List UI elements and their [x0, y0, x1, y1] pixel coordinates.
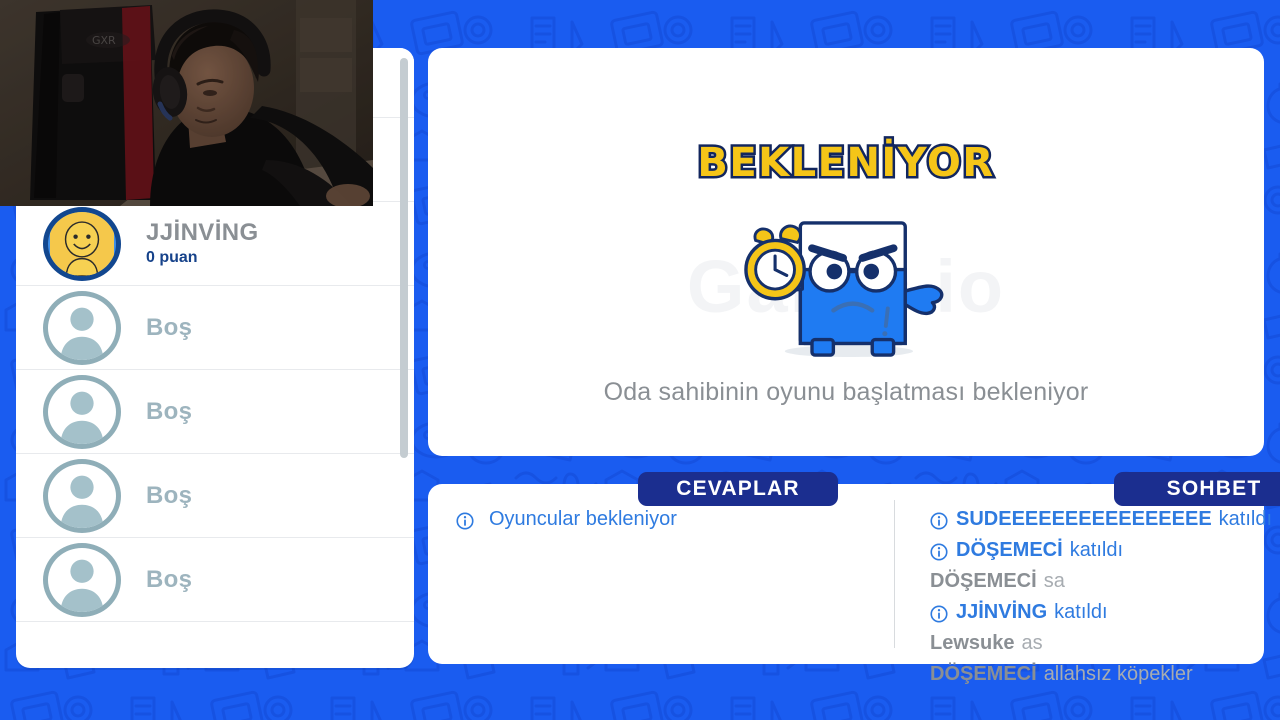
- baby-avatar-icon: [48, 212, 116, 276]
- waiting-subtitle: Oda sahibinin oyunu başlatması bekleniyo…: [428, 378, 1264, 407]
- empty-slot-label: Boş: [146, 398, 192, 426]
- player-score: 0 puan: [146, 249, 259, 267]
- player-info: JJİNVİNG 0 puan: [146, 220, 259, 266]
- app-root: DÖŞEMECİ 0 puan: [0, 0, 1280, 720]
- empty-avatar-icon: [43, 375, 121, 449]
- chat-message-text: katıldı: [1054, 597, 1107, 628]
- chat-message-name: DÖŞEMECİ: [930, 566, 1037, 597]
- player-row-jjinving[interactable]: JJİNVİNG 0 puan: [16, 202, 414, 286]
- player-list-scrollbar[interactable]: [400, 58, 408, 458]
- chat-message-text: sa: [1044, 566, 1065, 597]
- empty-slot-label: Boş: [146, 314, 192, 342]
- chat-message: SUDEEEEEEEEEEEEEEEE katıldı: [930, 504, 1280, 535]
- avatar: [40, 202, 124, 286]
- empty-avatar-icon: [43, 291, 121, 365]
- player-name: JJİNVİNG: [146, 220, 259, 245]
- empty-slot-label: Boş: [146, 482, 192, 510]
- chat-message-text: katıldı: [1219, 504, 1272, 535]
- avatar-image-baby: [43, 207, 121, 281]
- mascot-illustration: [731, 188, 961, 358]
- chat-message-text: allahsız köpekler: [1044, 659, 1193, 690]
- chat-message: Lewsuke as: [930, 628, 1280, 659]
- page-title: BEKLENİYOR: [428, 140, 1264, 186]
- avatar: [40, 370, 124, 454]
- chat-message-text: katıldı: [1070, 535, 1123, 566]
- chat-message: DÖŞEMECİ katıldı: [930, 535, 1280, 566]
- chat-message: JJİNVİNG katıldı: [930, 597, 1280, 628]
- webcam-video-frame: GXR: [0, 0, 373, 206]
- chat-message-name: DÖŞEMECİ: [930, 659, 1037, 690]
- answers-message: Oyuncular bekleniyor: [456, 504, 876, 535]
- panel-divider: [894, 500, 895, 648]
- chat-message-name: Lewsuke: [930, 628, 1014, 659]
- chat-message: DÖŞEMECİ allahsız köpekler: [930, 659, 1280, 690]
- answers-message-text: Oyuncular bekleniyor: [489, 504, 677, 535]
- player-row-empty[interactable]: Boş: [16, 370, 414, 454]
- chat-message-name: JJİNVİNG: [956, 597, 1047, 628]
- chat-message-name: DÖŞEMECİ: [956, 535, 1063, 566]
- person-silhouette-icon: [48, 380, 116, 444]
- chat-message-text: as: [1021, 628, 1042, 659]
- empty-slot-label: Boş: [146, 566, 192, 594]
- person-silhouette-icon: [48, 548, 116, 612]
- waiting-card: Gartic.io BEKLENİYOR: [428, 48, 1264, 456]
- empty-avatar-icon: [43, 459, 121, 533]
- avatar: [40, 538, 124, 622]
- avatar: [40, 454, 124, 538]
- info-icon: [930, 605, 948, 623]
- info-icon: [456, 512, 474, 530]
- tab-chat[interactable]: SOHBET: [1114, 472, 1280, 506]
- player-row-empty[interactable]: Boş: [16, 454, 414, 538]
- streamer-webcam-overlay: GXR: [0, 0, 373, 206]
- info-icon: [930, 512, 948, 530]
- player-row-empty[interactable]: Boş: [16, 286, 414, 370]
- avatar: [40, 286, 124, 370]
- player-row-empty[interactable]: Boş: [16, 538, 414, 622]
- empty-avatar-icon: [43, 543, 121, 617]
- chat-message: DÖŞEMECİ sa: [930, 566, 1280, 597]
- info-icon: [930, 543, 948, 561]
- person-silhouette-icon: [48, 296, 116, 360]
- tab-answers[interactable]: CEVAPLAR: [638, 472, 838, 506]
- chat-list: SUDEEEEEEEEEEEEEEEE katıldı DÖŞEMECİ kat…: [930, 504, 1280, 690]
- answers-list: Oyuncular bekleniyor: [456, 504, 876, 535]
- person-silhouette-icon: [48, 464, 116, 528]
- chat-message-name: SUDEEEEEEEEEEEEEEEE: [956, 504, 1212, 535]
